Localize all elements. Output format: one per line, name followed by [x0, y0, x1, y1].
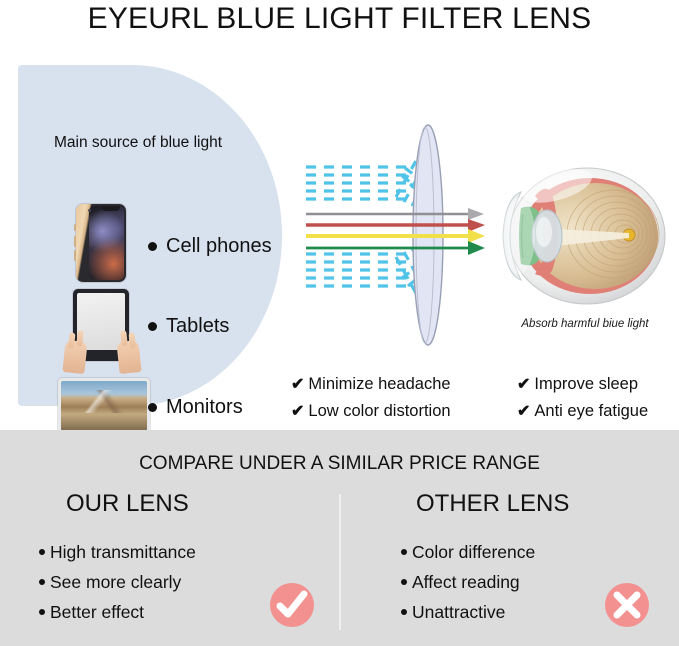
- list-item: See more clearly: [39, 567, 196, 597]
- benefit-label: Minimize headache: [308, 375, 450, 394]
- tablet-icon: [62, 289, 142, 373]
- benefit-item: ✔ Anti eye fatigue: [517, 402, 648, 421]
- smartphone-icon: [68, 204, 134, 282]
- source-item-tablets: Tablets: [148, 315, 229, 338]
- list-item: Color difference: [401, 537, 535, 567]
- list-item-label: Color difference: [412, 542, 535, 563]
- bullet-icon: [401, 579, 407, 585]
- source-item-label: Monitors: [166, 396, 243, 419]
- close-icon: [605, 583, 649, 627]
- bullet-icon: [39, 579, 45, 585]
- lens-light-ray-diagram: [292, 124, 497, 346]
- list-item-label: Affect reading: [412, 572, 520, 593]
- bullet-icon: [401, 549, 407, 555]
- our-lens-title: OUR LENS: [66, 490, 189, 518]
- benefit-item: ✔ Improve sleep: [517, 375, 638, 394]
- list-item: Better effect: [39, 597, 196, 627]
- list-item-label: Better effect: [50, 602, 144, 623]
- our-lens-list: High transmittance See more clearly Bett…: [39, 537, 196, 627]
- list-item: Unattractive: [401, 597, 535, 627]
- check-icon: ✔: [517, 377, 530, 393]
- blue-light-source-panel: Main source of blue light: [18, 65, 282, 406]
- price-comparison-section: COMPARE UNDER A SIMILAR PRICE RANGE OUR …: [0, 430, 679, 646]
- other-lens-list: Color difference Affect reading Unattrac…: [401, 537, 535, 627]
- source-item-label: Cell phones: [166, 235, 272, 258]
- list-item: High transmittance: [39, 537, 196, 567]
- source-item-label: Tablets: [166, 315, 229, 338]
- column-divider: [339, 494, 341, 630]
- list-item-label: Unattractive: [412, 602, 505, 623]
- eye-figure-caption: Absorb harmful biue light: [495, 318, 675, 330]
- check-icon: ✔: [291, 377, 304, 393]
- bullet-icon: [148, 403, 157, 412]
- check-icon: [270, 583, 314, 627]
- compare-heading: COMPARE UNDER A SIMILAR PRICE RANGE: [0, 453, 679, 475]
- blue-panel-heading: Main source of blue light: [54, 134, 222, 152]
- bullet-icon: [401, 609, 407, 615]
- list-item: Affect reading: [401, 567, 535, 597]
- bullet-icon: [148, 242, 157, 251]
- bullet-icon: [39, 609, 45, 615]
- other-lens-title: OTHER LENS: [416, 490, 569, 518]
- check-icon: ✔: [517, 404, 530, 420]
- check-icon: ✔: [291, 404, 304, 420]
- bullet-icon: [39, 549, 45, 555]
- human-eye-cross-section: [495, 156, 675, 316]
- benefit-item: ✔ Low color distortion: [291, 402, 451, 421]
- list-item-label: High transmittance: [50, 542, 196, 563]
- cross-badge: [605, 583, 649, 627]
- benefit-label: Improve sleep: [534, 375, 638, 394]
- benefit-label: Low color distortion: [308, 402, 450, 421]
- source-item-cell-phones: Cell phones: [148, 235, 272, 258]
- benefit-label: Anti eye fatigue: [534, 402, 648, 421]
- bullet-icon: [148, 322, 157, 331]
- page-title: EYEURL BLUE LIGHT FILTER LENS: [0, 2, 679, 36]
- list-item-label: See more clearly: [50, 572, 181, 593]
- top-info-section: Main source of blue light: [0, 46, 679, 430]
- check-badge: [270, 583, 314, 627]
- source-item-monitors: Monitors: [148, 396, 243, 419]
- benefit-item: ✔ Minimize headache: [291, 375, 451, 394]
